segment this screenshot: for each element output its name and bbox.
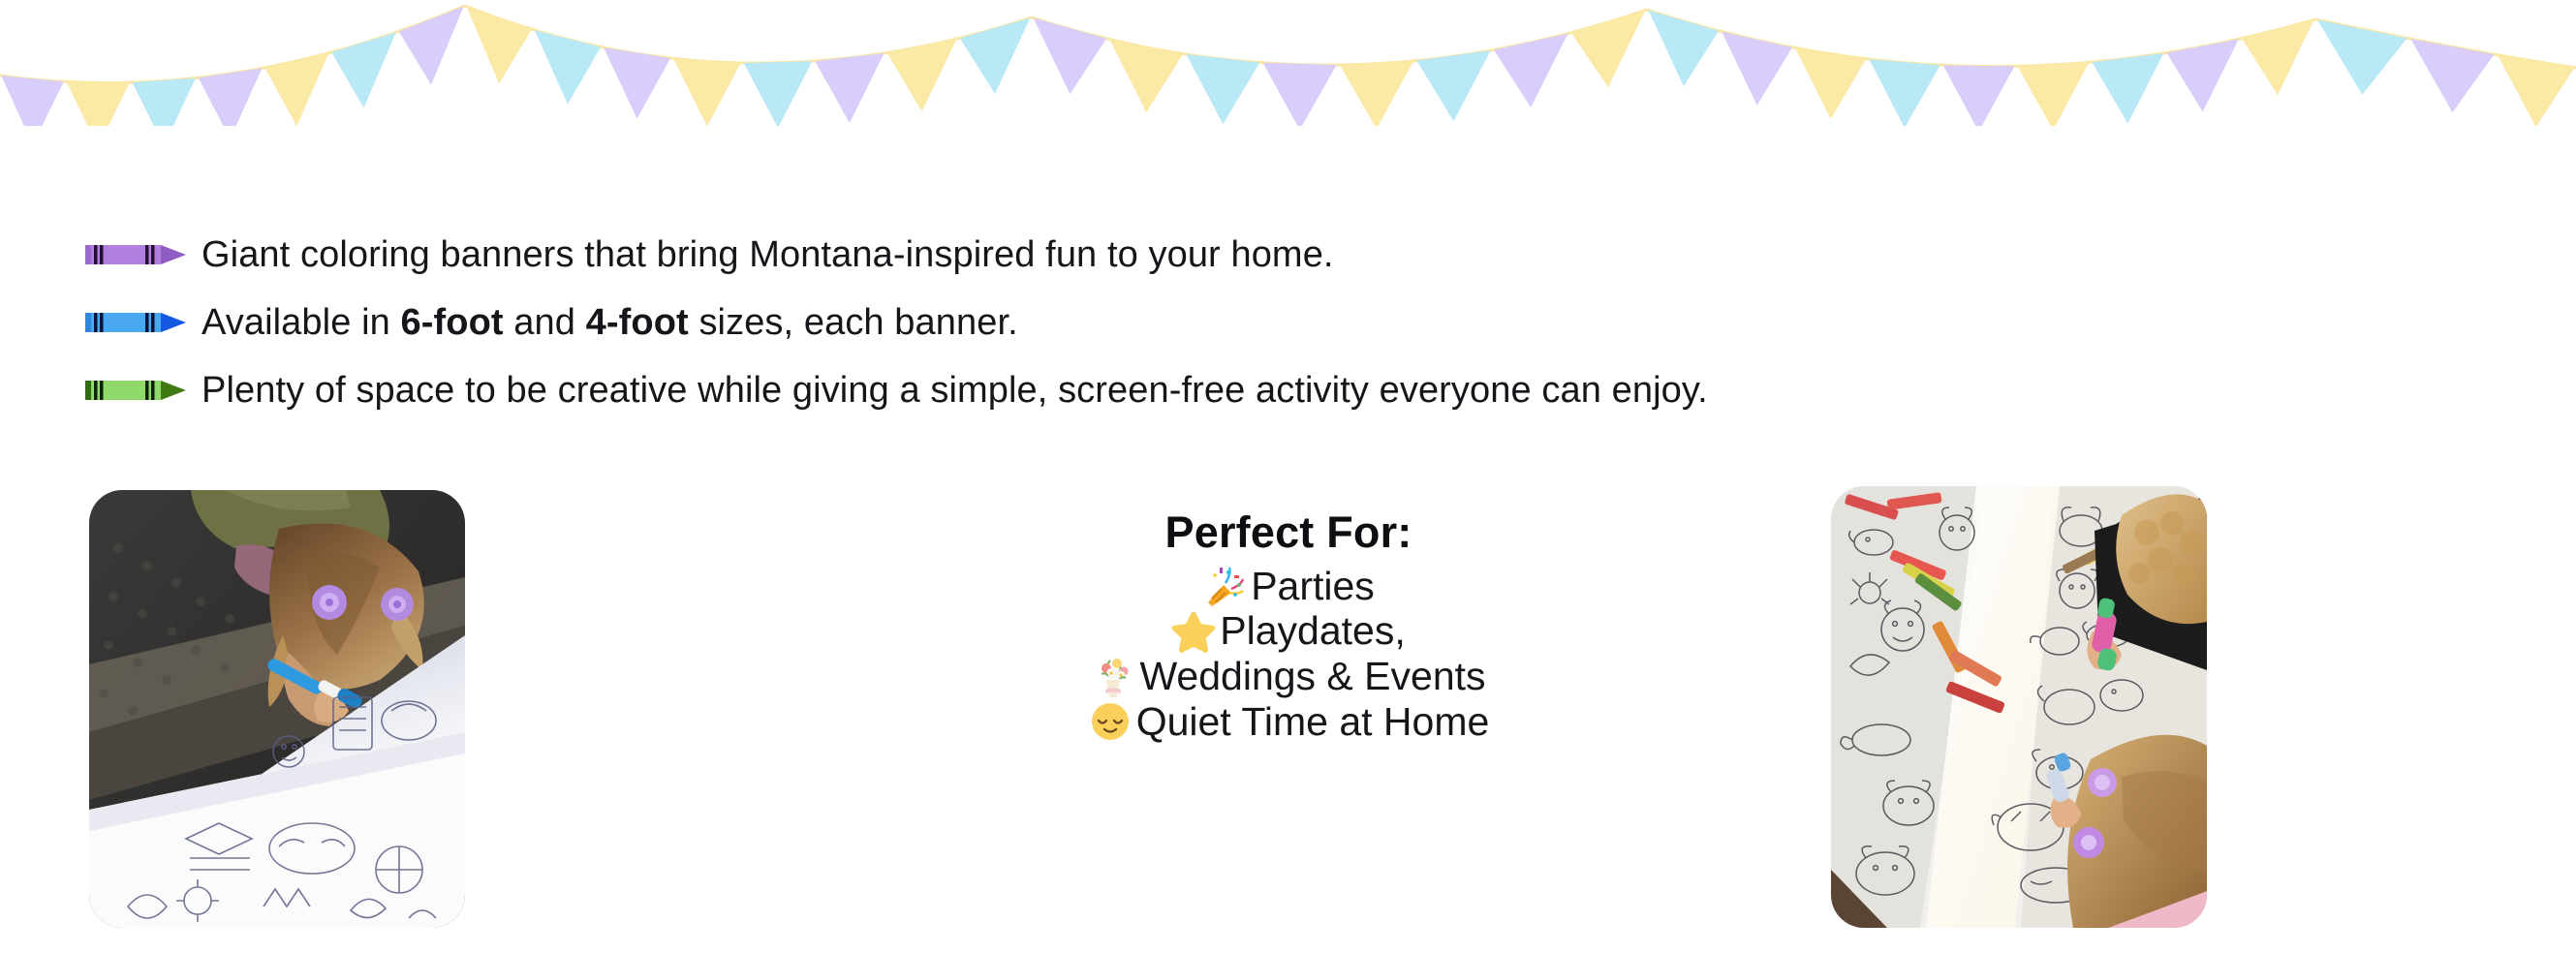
feature-item: Plenty of space to be creative while giv… — [85, 356, 2488, 424]
bunting-flag — [264, 53, 328, 126]
bunting-flag — [331, 32, 396, 108]
bunting-string — [1647, 10, 2315, 67]
bunting-flag — [399, 7, 464, 85]
hair-flower — [381, 588, 414, 621]
hair-flower — [2088, 768, 2117, 797]
bunting-flag — [1, 76, 64, 126]
bunting-flag — [132, 78, 195, 126]
perfect-for-title: Perfect For: — [543, 507, 2034, 558]
bunting-flag — [1571, 11, 1646, 88]
bunting-flag — [1109, 40, 1183, 112]
crayon-green-icon — [85, 378, 190, 403]
bunting-flag — [2498, 55, 2574, 126]
bunting-flags — [1, 7, 2574, 126]
perfect-for-item: Weddings & Events — [543, 654, 2034, 699]
perfect-for-item: Quiet Time at Home — [543, 699, 2034, 745]
bunting-flag — [1034, 18, 1107, 95]
bunting-flag — [1649, 10, 1720, 86]
crayon-blue-icon — [85, 310, 190, 335]
hair-flower — [2073, 827, 2104, 858]
feature-item: Available in 6-foot and 4-foot sizes, ea… — [85, 289, 2488, 356]
bunting-flag — [199, 68, 263, 126]
feature-text: Giant coloring banners that bring Montan… — [202, 236, 1334, 273]
bouquet-icon — [1091, 655, 1135, 699]
photo-two-children-coloring — [1831, 486, 2207, 928]
feature-list: Giant coloring banners that bring Montan… — [85, 221, 2488, 424]
bunting-flag — [2166, 39, 2238, 111]
bunting-flag — [1340, 61, 1413, 126]
crayon-purple-icon — [85, 242, 190, 267]
bunting-flag — [1722, 32, 1792, 106]
bunting-flag — [2017, 62, 2089, 126]
bunting-svg — [0, 0, 2576, 126]
bunting-string — [2315, 19, 2576, 68]
bunting-flag — [604, 47, 670, 118]
bunting-flag — [1869, 59, 1940, 126]
bunting-flag — [673, 58, 741, 126]
bunting-flag — [1795, 47, 1866, 119]
feature-text: Available in 6-foot and 4-foot sizes, ea… — [202, 304, 1018, 341]
bunting-flag — [2092, 53, 2163, 124]
perfect-for-label: Parties — [1251, 564, 1375, 609]
relieved-face-icon — [1088, 699, 1133, 744]
party-popper-icon — [1202, 564, 1247, 608]
bunting-string — [1032, 10, 1647, 65]
bunting-flag — [67, 81, 130, 126]
perfect-for-label: Weddings & Events — [1139, 654, 1485, 699]
bunting-flag — [960, 17, 1031, 93]
feature-item: Giant coloring banners that bring Montan… — [85, 221, 2488, 289]
bunting-flag — [1416, 50, 1490, 121]
hair-flower — [312, 585, 347, 620]
photo-child-coloring-banner — [89, 490, 465, 928]
bunting-flag — [1943, 65, 2015, 126]
perfect-for-item: Playdates, — [543, 608, 2034, 654]
bunting-flag — [887, 39, 957, 111]
bunting-flag — [2242, 19, 2314, 95]
party-bunting-banner — [0, 0, 2576, 126]
bunting-flag — [2410, 39, 2494, 112]
bunting-string — [0, 6, 465, 83]
feature-text: Plenty of space to be creative while giv… — [202, 372, 1708, 409]
perfect-for-label: Quiet Time at Home — [1136, 699, 1490, 745]
bunting-flag — [1263, 63, 1337, 126]
bunting-flag — [535, 30, 601, 105]
bunting-flag — [466, 7, 532, 84]
star-icon — [1171, 609, 1216, 654]
perfect-for-item: Parties — [543, 564, 2034, 609]
bunting-flag — [744, 61, 813, 126]
bunting-string — [465, 6, 1032, 63]
bunting-flag — [1186, 54, 1259, 124]
perfect-for-block: Perfect For: Parties Play — [543, 507, 2034, 745]
perfect-for-label: Playdates, — [1220, 608, 1405, 654]
bunting-flag — [815, 53, 884, 123]
bunting-flag — [2317, 19, 2407, 94]
bunting-flag — [1494, 34, 1568, 108]
